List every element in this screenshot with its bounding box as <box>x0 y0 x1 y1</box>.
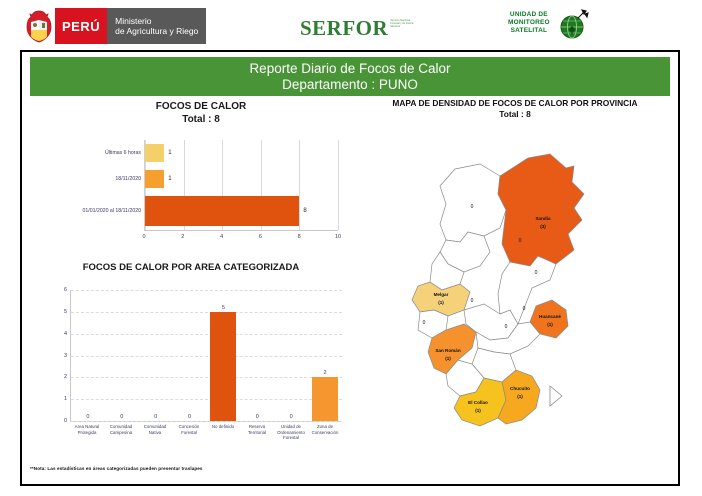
province-shape-sandia <box>498 154 584 266</box>
province-label-chucuito: Chucuito <box>510 386 530 391</box>
ums-line-3: SATELITAL <box>508 27 550 35</box>
chart2-bar-col: 0 <box>173 290 207 421</box>
chart1-bar <box>145 170 164 188</box>
ums-text: UNIDAD DE MONITOREO SATELITAL <box>508 11 550 35</box>
globe-satellite-icon <box>556 8 586 38</box>
province-count-zero: 0 <box>471 298 474 304</box>
chart1-bar <box>145 144 164 162</box>
chart1-x-axis: 0 2 4 6 8 10 <box>144 230 338 245</box>
chart1-plot-area: Últimas 6 horas 1 18/11/2020 1 01/01/202… <box>144 140 338 230</box>
chart2-category-label: No definido <box>206 424 240 441</box>
map-title-block: MAPA DE DENSIDAD DE FOCOS DE CALOR POR P… <box>360 98 670 120</box>
province-count-zero: 0 <box>535 270 538 276</box>
serfor-tagline: Servicio Nacional Forestal y de Fauna Si… <box>390 19 416 28</box>
province-shape-uncolored <box>440 164 506 242</box>
peru-wordmark: PERÚ <box>55 8 107 44</box>
satellite-monitoring-unit-logo: UNIDAD DE MONITOREO SATELITAL <box>508 8 586 38</box>
province-label-san-roman: San Román <box>435 348 460 353</box>
ministry-line-2: de Agricultura y Riego <box>115 26 198 37</box>
chart1-x-tick: 10 <box>335 234 341 240</box>
peru-ministry-logo: PERÚ Ministerio de Agricultura y Riego <box>23 8 206 44</box>
province-label-el-collao: El Collao <box>468 400 488 405</box>
chart2-category-label: Unidad de Ordenamiento Forestal <box>274 424 308 441</box>
map-subtitle: Total : 8 <box>360 109 670 120</box>
chart2-y-tick: 5 <box>64 309 71 315</box>
province-label-huancane: Huancané <box>539 314 561 319</box>
chart1-bar-value: 1 <box>168 176 171 182</box>
chart2-bar-col: 5 <box>207 290 241 421</box>
peru-coat-of-arms-icon <box>23 8 55 44</box>
chart2-bar-value: 0 <box>188 414 191 420</box>
chart2-category-label: Concesión Forestal <box>172 424 206 441</box>
chart2-bar-value: 0 <box>290 414 293 420</box>
serfor-wordmark: SERFOR <box>300 16 388 41</box>
province-label-sandia: Sandia <box>535 216 551 221</box>
chart2-bar-col: 0 <box>139 290 173 421</box>
chart2-category-label: Comunidad Campesina <box>104 424 138 441</box>
chart2-bar <box>312 377 338 421</box>
chart1-bar <box>145 196 299 226</box>
chart1-category-label: 18/11/2020 <box>115 176 145 182</box>
chart2-bar-value: 0 <box>256 414 259 420</box>
chart1-bar-value: 1 <box>168 150 171 156</box>
chart2-bars: 0 0 0 0 5 <box>71 290 342 421</box>
chart2-bar <box>210 312 236 421</box>
chart1-category-label: Últimas 6 horas <box>105 150 145 156</box>
chart1-subtitle: Total : 8 <box>36 113 366 126</box>
chart2-y-tick: 4 <box>64 331 71 337</box>
ums-line-2: MONITOREO <box>508 19 550 27</box>
province-count-zero: 0 <box>505 324 508 330</box>
chart1-category-label: 01/01/2020 al 18/11/2020 <box>83 208 145 214</box>
chart2-y-tick: 1 <box>64 396 71 402</box>
puno-province-map: Sandia (3) Melgar (1) San Román (1) <box>360 124 670 444</box>
chart1-x-tick: 4 <box>220 234 223 240</box>
province-label-melgar: Melgar <box>434 292 449 297</box>
province-count-melgar: (1) <box>438 300 444 305</box>
chart2-bar-value: 2 <box>324 370 327 376</box>
chart2-bar-col: 0 <box>274 290 308 421</box>
chart1-x-tick: 6 <box>259 234 262 240</box>
province-count-zero: 0 <box>423 320 426 326</box>
density-map-panel: MAPA DE DENSIDAD DE FOCOS DE CALOR POR P… <box>360 98 670 448</box>
map-title: MAPA DE DENSIDAD DE FOCOS DE CALOR POR P… <box>360 98 670 109</box>
province-count-zero: 0 <box>519 238 522 244</box>
province-count-el-collao: (1) <box>475 408 481 413</box>
report-title-line-2: Departamento : PUNO <box>282 77 418 93</box>
chart2-x-axis-labels: Area Natural Protegida Comunidad Campesi… <box>70 424 342 441</box>
chart1-title: FOCOS DE CALOR <box>36 100 366 113</box>
chart1-x-tick: 8 <box>298 234 301 240</box>
chart2-category-label: Area Natural Protegida <box>70 424 104 441</box>
serfor-logo: SERFOR Servicio Nacional Forestal y de F… <box>300 16 416 41</box>
chart2-category-label: Zona de Conservación <box>308 424 342 441</box>
chart1-bar-value: 8 <box>303 208 306 214</box>
report-title-band: Reporte Diario de Focos de Calor Departa… <box>30 57 670 96</box>
province-count-huancane: (1) <box>547 322 553 327</box>
ums-line-1: UNIDAD DE <box>508 11 550 19</box>
chart2-bar-col: 0 <box>240 290 274 421</box>
chart2-category-label: Reserva Territorial <box>240 424 274 441</box>
chart2-y-tick: 6 <box>64 287 71 293</box>
focos-de-calor-chart: FOCOS DE CALOR Total : 8 Últimas 6 horas… <box>36 100 366 250</box>
province-count-san-roman: (1) <box>445 356 451 361</box>
chart1-x-tick: 2 <box>181 234 184 240</box>
chart2-category-label: Comunidad Nativa <box>138 424 172 441</box>
province-count-zero: 0 <box>523 306 526 312</box>
chart2-bar-value: 0 <box>120 414 123 420</box>
chart2-title: FOCOS DE CALOR POR AREA CATEGORIZADA <box>26 262 356 273</box>
ministry-line-1: Ministerio <box>115 16 198 27</box>
chart2-bar-col: 0 <box>105 290 139 421</box>
province-count-sandia: (3) <box>540 224 546 229</box>
chart1-bar-row: 18/11/2020 1 <box>145 170 338 188</box>
chart1-bar-row: Últimas 6 horas 1 <box>145 144 338 162</box>
report-page: PERÚ Ministerio de Agricultura y Riego S… <box>0 0 702 496</box>
focos-por-area-categorizada-chart: FOCOS DE CALOR POR AREA CATEGORIZADA 6 5… <box>26 262 356 458</box>
chart2-y-tick: 3 <box>64 353 71 359</box>
chart1-bars: Últimas 6 horas 1 18/11/2020 1 01/01/202… <box>145 140 338 230</box>
chart2-bar-value: 5 <box>222 305 225 311</box>
chart2-bar-value: 0 <box>154 414 157 420</box>
province-count-zero: 0 <box>471 204 474 210</box>
chart2-plot-area: 6 5 4 3 2 1 0 0 0 0 <box>70 290 342 422</box>
chart1-title-block: FOCOS DE CALOR Total : 8 <box>36 100 366 126</box>
ministry-name: Ministerio de Agricultura y Riego <box>107 8 206 44</box>
chart1-x-tick: 0 <box>142 234 145 240</box>
report-title-line-1: Reporte Diario de Focos de Calor <box>249 61 450 77</box>
chart2-bar-value: 0 <box>86 414 89 420</box>
north-arrow-icon <box>550 386 562 406</box>
header-logo-bar: PERÚ Ministerio de Agricultura y Riego S… <box>0 0 702 48</box>
chart2-y-tick: 2 <box>64 374 71 380</box>
chart2-bar-col: 0 <box>71 290 105 421</box>
chart2-bar-col: 2 <box>308 290 342 421</box>
chart1-bar-row: 01/01/2020 al 18/11/2020 8 <box>145 196 338 226</box>
footnote: **Nota: Las estadísticas en áreas catego… <box>30 466 203 471</box>
province-count-chucuito: (1) <box>517 394 523 399</box>
